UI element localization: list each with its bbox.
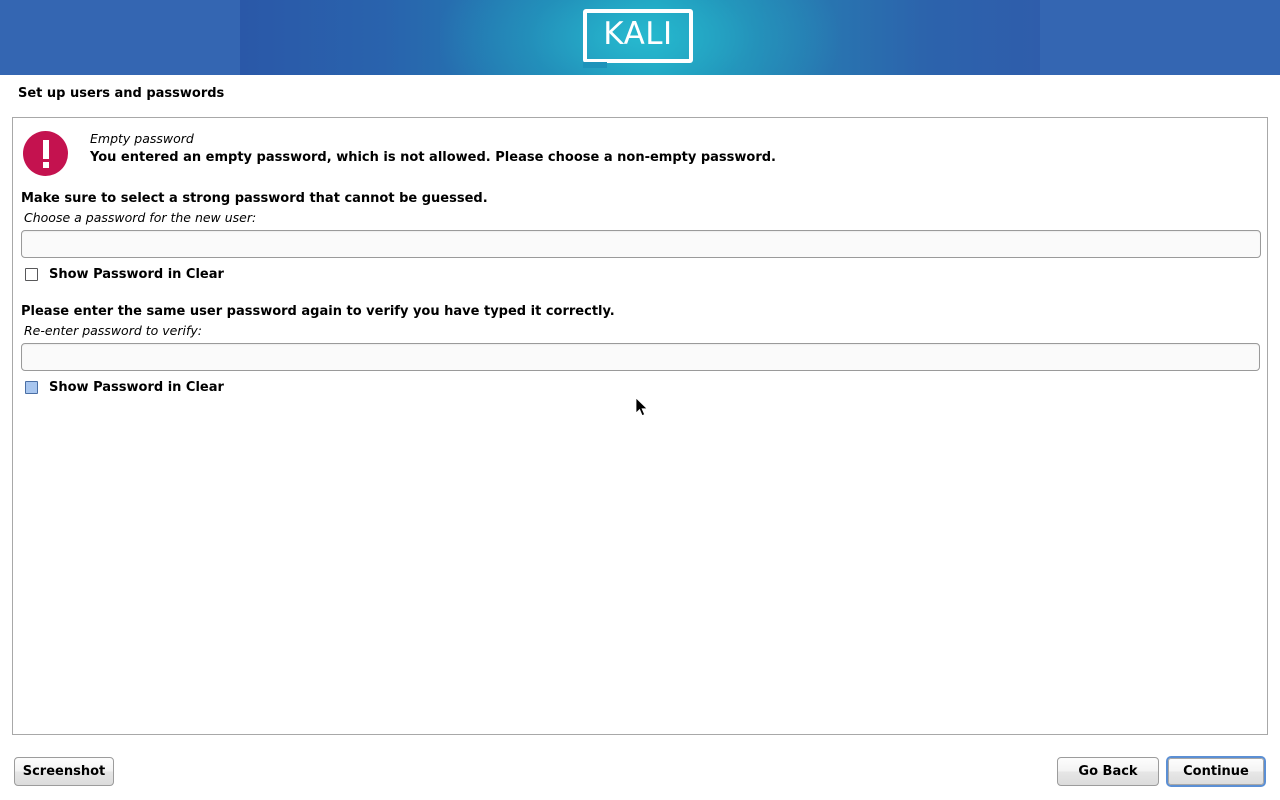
main-panel: Empty password You entered an empty pass… (12, 117, 1268, 735)
alert-title: Empty password (90, 130, 776, 148)
exclamation-dot (43, 162, 49, 168)
continue-button-label: Continue (1168, 758, 1264, 785)
password-hint: Make sure to select a strong password th… (21, 191, 1261, 206)
show-password-clear-row-2[interactable]: Show Password in Clear (25, 380, 1261, 395)
show-password-clear-label-2: Show Password in Clear (49, 380, 224, 395)
alert-text-group: Empty password You entered an empty pass… (90, 128, 776, 168)
form-spacer (21, 282, 1261, 304)
kali-banner: KALI (0, 0, 1280, 75)
show-password-clear-label-1: Show Password in Clear (49, 267, 224, 282)
installer-screen: KALI Set up users and passwords Empty pa… (0, 0, 1280, 800)
show-password-clear-checkbox-2[interactable] (25, 381, 38, 394)
show-password-clear-checkbox-1[interactable] (25, 268, 38, 281)
verify-password-input[interactable] (21, 343, 1260, 371)
kali-logo: KALI (583, 9, 697, 67)
show-password-clear-row-1[interactable]: Show Password in Clear (25, 267, 1261, 282)
error-exclamation-icon (23, 131, 68, 176)
alert-block: Empty password You entered an empty pass… (23, 128, 1253, 176)
password-form: Make sure to select a strong password th… (21, 191, 1261, 395)
continue-button[interactable]: Continue (1166, 756, 1266, 787)
screenshot-button[interactable]: Screenshot (14, 757, 114, 786)
password-input[interactable] (21, 230, 1261, 258)
verify-hint: Please enter the same user password agai… (21, 304, 1261, 319)
alert-message: You entered an empty password, which is … (90, 148, 776, 168)
page-title: Set up users and passwords (18, 86, 224, 101)
go-back-button[interactable]: Go Back (1057, 757, 1159, 786)
kali-logo-text: KALI (583, 9, 693, 63)
exclamation-bar (43, 140, 49, 159)
password-label: Choose a password for the new user: (24, 210, 1261, 225)
verify-label: Re-enter password to verify: (24, 323, 1261, 338)
